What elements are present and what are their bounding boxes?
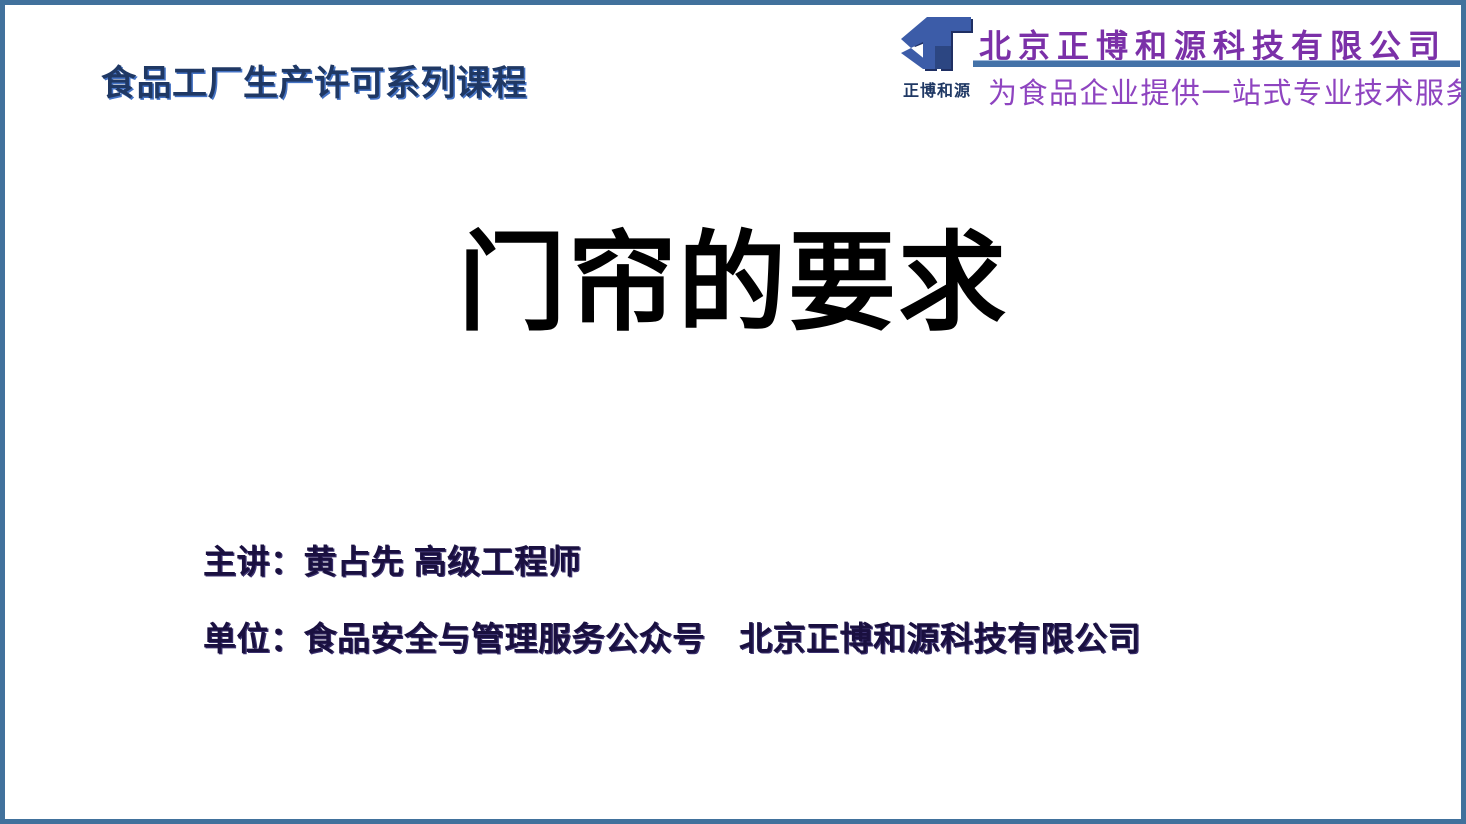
company-tagline: 为食品企业提供一站式专业技术服务 [988, 70, 1466, 112]
presenter-name-line: 主讲：黄占先 高级工程师 [203, 535, 1141, 583]
brand-divider [973, 60, 1460, 67]
presenter-info: 主讲：黄占先 高级工程师 单位：食品安全与管理服务公众号 北京正博和源科技有限公… [203, 535, 1141, 660]
logo-subtext: 正博和源 [889, 77, 985, 101]
company-logo-icon [891, 13, 983, 77]
presentation-slide: 食品工厂生产许可系列课程 正 [0, 0, 1466, 824]
presenter-organization-line: 单位：食品安全与管理服务公众号 北京正博和源科技有限公司 [203, 612, 1141, 660]
course-series-title: 食品工厂生产许可系列课程 [101, 55, 527, 106]
slide-main-title: 门帘的要求 [5, 223, 1461, 344]
brand-header: 正博和源 北京正博和源科技有限公司 为食品企业提供一站式专业技术服务 [889, 9, 1466, 113]
